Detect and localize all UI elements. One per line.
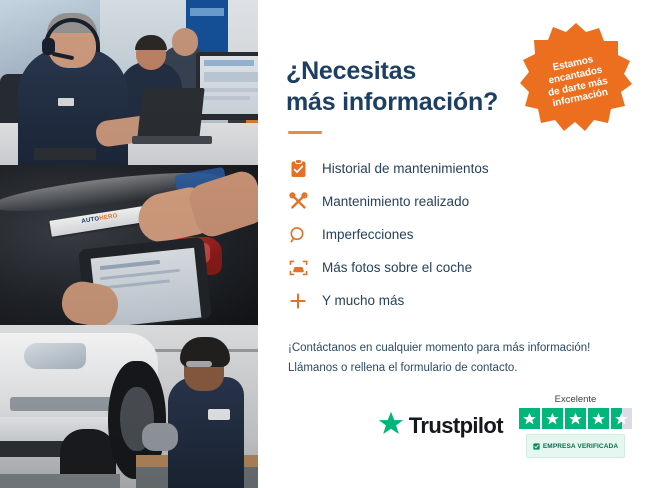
trustpilot-star-icon <box>378 411 404 441</box>
tools-cross-icon <box>288 192 308 212</box>
star-half <box>611 408 632 429</box>
list-item: Historial de mantenimientos <box>288 152 622 185</box>
page-title: ¿Necesitas más información? <box>286 56 511 117</box>
list-item-label: Historial de mantenimientos <box>322 161 489 176</box>
photo-overlay <box>0 165 258 325</box>
photo-column: AUTOHERO <box>0 0 258 488</box>
mechanic-wheel-photo <box>0 325 258 488</box>
call-center-agents-photo <box>0 0 258 165</box>
list-item-label: Imperfecciones <box>322 227 414 242</box>
verified-label: EMPRESA VERIFICADA <box>543 443 618 450</box>
trustpilot-rating: Trustpilot Excelente <box>286 394 632 458</box>
plus-icon <box>288 291 308 311</box>
status-badge: Estamos encantados de darte más informac… <box>520 22 632 134</box>
promo-panel: AUTOHERO <box>0 0 650 488</box>
page-title-line-1: ¿Necesitas <box>286 57 416 85</box>
star-filled <box>519 408 540 429</box>
contact-line-2: Llámanos o rellena el formulario de cont… <box>288 362 518 374</box>
star-filled <box>565 408 586 429</box>
list-item: Y mucho más <box>288 284 622 317</box>
car-photo-frame-icon <box>288 258 308 278</box>
magnifier-icon <box>288 225 308 245</box>
list-item: Imperfecciones <box>288 218 622 251</box>
title-divider <box>288 131 322 134</box>
feature-list: Historial de mantenimientos Mantenimient… <box>288 152 622 317</box>
rating-label: Excelente <box>555 394 597 405</box>
star-rating <box>519 408 632 429</box>
badge-content: Estamos encantados de darte más informac… <box>510 12 643 145</box>
list-item: Más fotos sobre el coche <box>288 251 622 284</box>
car-inspection-ruler-photo: AUTOHERO <box>0 165 258 325</box>
page-title-line-2: más información? <box>286 88 498 116</box>
contact-text: ¡Contáctanos en cualquier momento para m… <box>288 339 622 379</box>
list-item: Mantenimiento realizado <box>288 185 622 218</box>
verified-badge: EMPRESA VERIFICADA <box>526 434 625 458</box>
check-square-icon <box>533 437 540 455</box>
list-item-label: Y mucho más <box>322 293 404 308</box>
clipboard-check-icon <box>288 159 308 179</box>
list-item-label: Mantenimiento realizado <box>322 194 469 209</box>
photo-overlay <box>0 325 258 488</box>
list-item-label: Más fotos sobre el coche <box>322 260 472 275</box>
photo-overlay <box>0 0 258 165</box>
contact-line-1: ¡Contáctanos en cualquier momento para m… <box>288 342 590 354</box>
star-filled <box>588 408 609 429</box>
trustpilot-logo: Trustpilot <box>378 411 503 441</box>
content-area: ¿Necesitas más información? Historial de… <box>258 0 650 488</box>
rating-block: Excelente <box>519 394 632 458</box>
star-filled <box>542 408 563 429</box>
trustpilot-wordmark: Trustpilot <box>409 413 503 439</box>
